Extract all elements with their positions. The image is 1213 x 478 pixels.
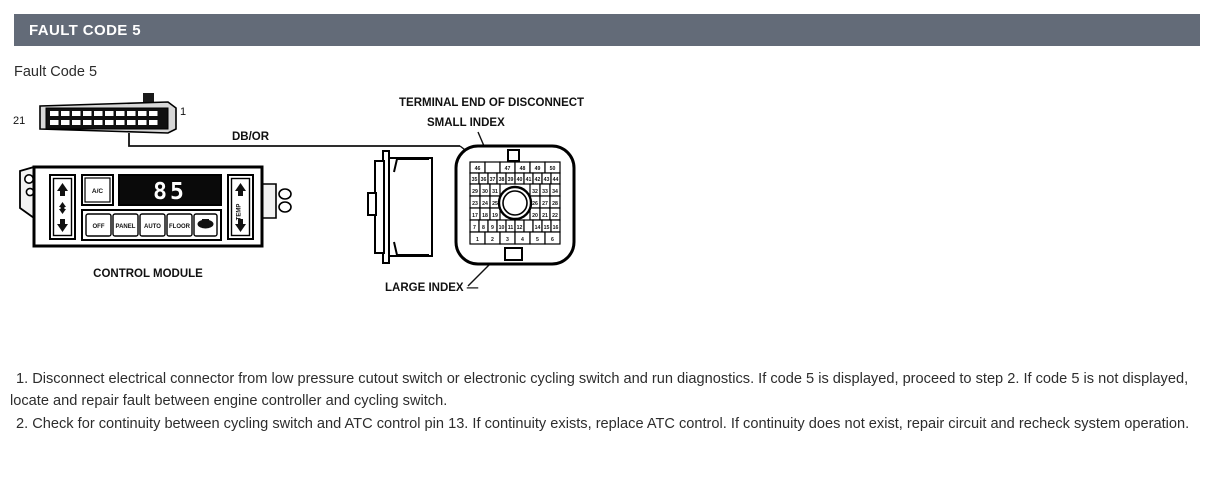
connector-21-way: 21 1 bbox=[13, 93, 186, 133]
svg-text:30: 30 bbox=[482, 189, 488, 195]
connector-pin-label-21: 21 bbox=[13, 115, 25, 127]
svg-text:14: 14 bbox=[535, 225, 541, 231]
svg-text:28: 28 bbox=[552, 201, 558, 207]
svg-text:47: 47 bbox=[505, 166, 511, 172]
svg-text:48: 48 bbox=[520, 166, 526, 172]
connector-side-profile bbox=[368, 151, 432, 263]
svg-text:12: 12 bbox=[517, 225, 523, 231]
svg-text:34: 34 bbox=[552, 189, 558, 195]
svg-text:7: 7 bbox=[473, 225, 476, 231]
svg-text:46: 46 bbox=[475, 166, 481, 172]
connector-pin-label-1: 1 bbox=[180, 106, 186, 118]
svg-text:35: 35 bbox=[472, 177, 478, 183]
page-header-bar: FAULT CODE 5 bbox=[14, 14, 1200, 46]
svg-text:49: 49 bbox=[535, 166, 541, 172]
wire-color-code-label: DB/OR bbox=[232, 131, 270, 143]
pin-grid-connector: 46 47 48 49 50 35 36 37 38 39 40 41 42 4… bbox=[456, 146, 574, 264]
svg-text:22: 22 bbox=[552, 213, 558, 219]
wiring-diagram-figure: 21 1 DB/OR bbox=[0, 88, 620, 308]
svg-text:6: 6 bbox=[551, 237, 554, 243]
svg-text:32: 32 bbox=[532, 189, 538, 195]
floor-button-label: FLOOR bbox=[169, 224, 191, 230]
svg-text:29: 29 bbox=[472, 189, 478, 195]
svg-text:18: 18 bbox=[482, 213, 488, 219]
svg-text:15: 15 bbox=[544, 225, 550, 231]
svg-text:31: 31 bbox=[492, 189, 498, 195]
svg-text:33: 33 bbox=[542, 189, 548, 195]
svg-text:21: 21 bbox=[542, 213, 548, 219]
svg-text:44: 44 bbox=[553, 177, 559, 183]
svg-text:41: 41 bbox=[526, 177, 532, 183]
control-module: A/C 85 OFF PANEL AUTO FLOOR TEMP C bbox=[20, 167, 291, 280]
ac-button-label: A/C bbox=[92, 188, 104, 195]
svg-text:25: 25 bbox=[492, 201, 498, 207]
control-module-caption: CONTROL MODULE bbox=[93, 268, 203, 280]
wire-db-or: DB/OR bbox=[129, 131, 460, 146]
svg-text:24: 24 bbox=[482, 201, 488, 207]
svg-text:1: 1 bbox=[476, 237, 479, 243]
control-module-display: 85 bbox=[153, 179, 187, 205]
off-button-label: OFF bbox=[93, 224, 105, 230]
auto-button-label: AUTO bbox=[144, 224, 161, 230]
svg-text:23: 23 bbox=[472, 201, 478, 207]
svg-text:17: 17 bbox=[472, 213, 478, 219]
svg-text:3: 3 bbox=[506, 237, 509, 243]
temp-slider-label: TEMP bbox=[237, 204, 243, 221]
svg-text:39: 39 bbox=[508, 177, 514, 183]
page-title: FAULT CODE 5 bbox=[14, 22, 141, 39]
svg-text:40: 40 bbox=[517, 177, 523, 183]
svg-text:2: 2 bbox=[491, 237, 494, 243]
svg-text:10: 10 bbox=[499, 225, 505, 231]
svg-text:37: 37 bbox=[490, 177, 496, 183]
svg-text:20: 20 bbox=[532, 213, 538, 219]
svg-text:19: 19 bbox=[492, 213, 498, 219]
svg-text:16: 16 bbox=[553, 225, 559, 231]
small-index-label: SMALL INDEX bbox=[427, 117, 505, 129]
terminal-end-label: TERMINAL END OF DISCONNECT bbox=[399, 97, 584, 109]
diagnostic-step-1: 1. Disconnect electrical connector from … bbox=[10, 368, 1195, 412]
fault-code-subtitle: Fault Code 5 bbox=[14, 64, 97, 80]
svg-text:27: 27 bbox=[542, 201, 548, 207]
large-index-label: LARGE INDEX — bbox=[385, 282, 479, 294]
svg-text:9: 9 bbox=[491, 225, 494, 231]
svg-text:8: 8 bbox=[482, 225, 485, 231]
svg-text:11: 11 bbox=[508, 225, 514, 231]
svg-text:4: 4 bbox=[521, 237, 524, 243]
svg-text:42: 42 bbox=[535, 177, 541, 183]
svg-text:26: 26 bbox=[532, 201, 538, 207]
diagnostic-step-2: 2. Check for continuity between cycling … bbox=[10, 413, 1195, 435]
svg-text:5: 5 bbox=[536, 237, 539, 243]
panel-button-label: PANEL bbox=[116, 224, 136, 230]
svg-text:43: 43 bbox=[544, 177, 550, 183]
svg-text:38: 38 bbox=[499, 177, 505, 183]
svg-text:50: 50 bbox=[550, 166, 556, 172]
diagnostic-steps: 1. Disconnect electrical connector from … bbox=[10, 368, 1195, 436]
svg-text:36: 36 bbox=[481, 177, 487, 183]
